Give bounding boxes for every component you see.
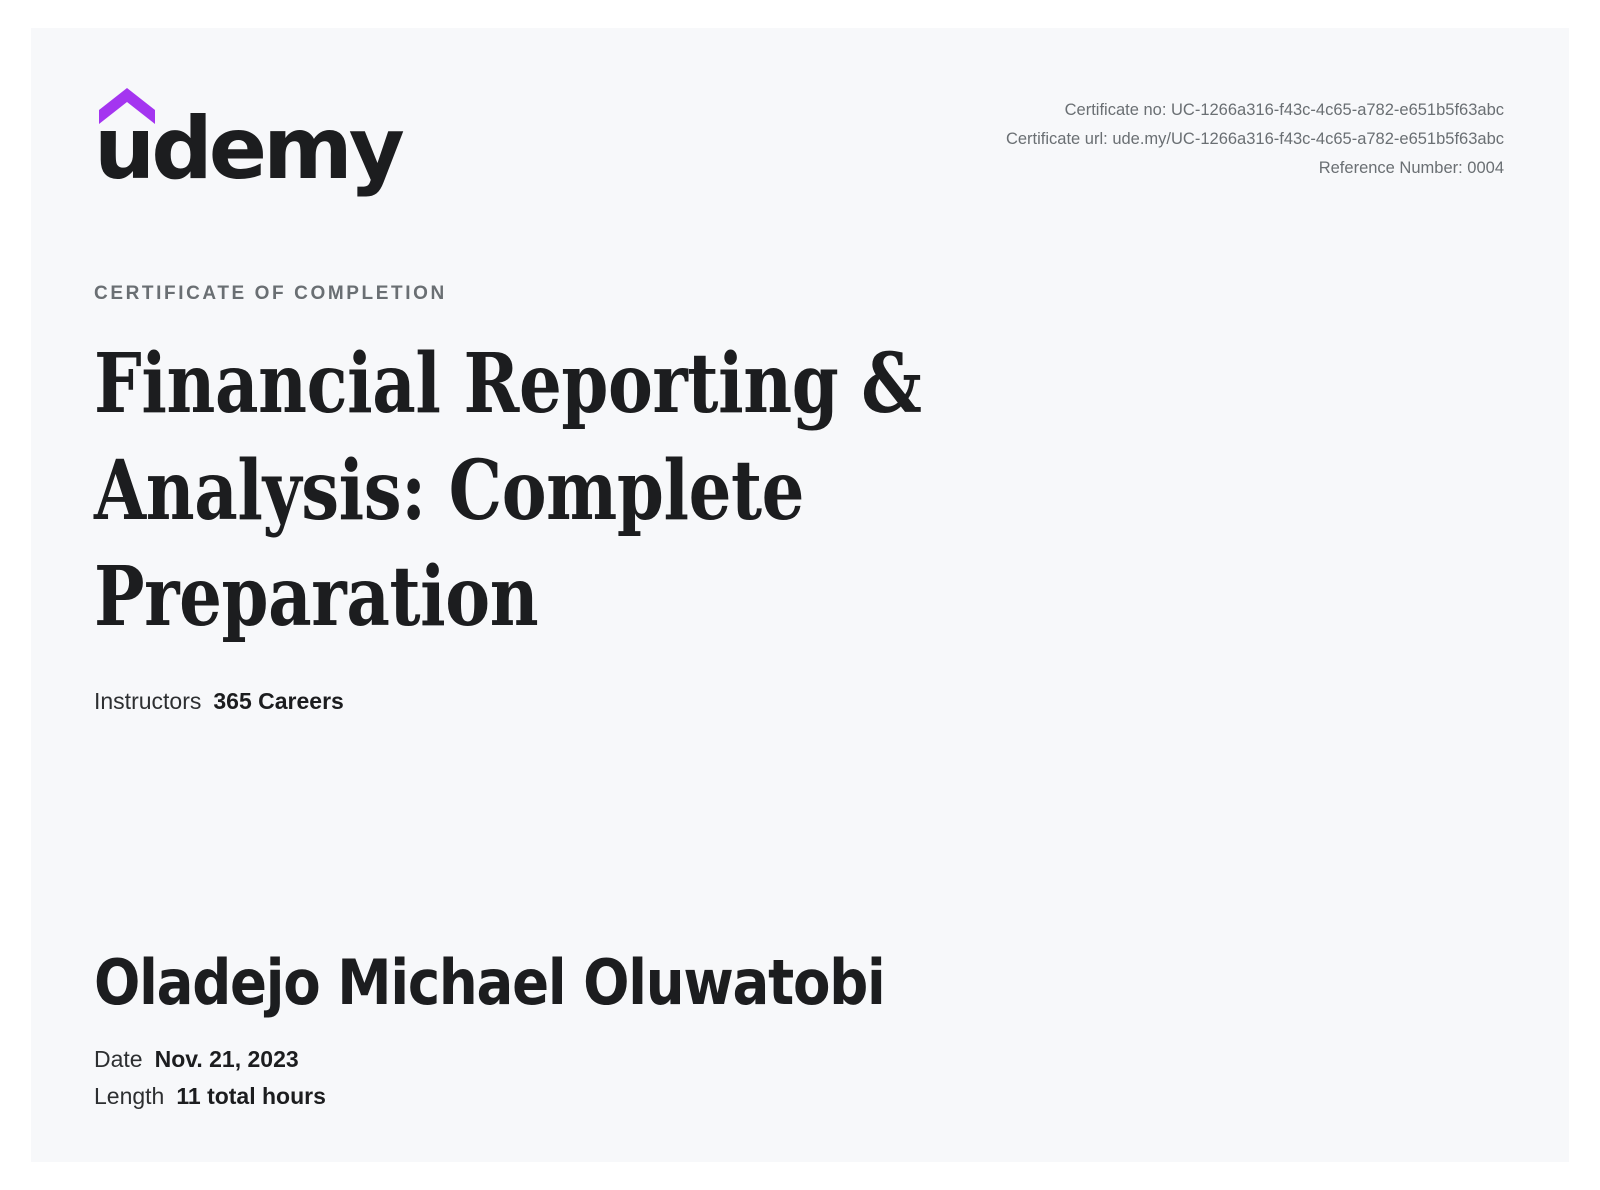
certificate-header: udemy Certificate no: UC-1266a316-f43c-4… <box>31 28 1569 218</box>
instructors-value: 365 Careers <box>213 688 343 714</box>
certificate-page: udemy Certificate no: UC-1266a316-f43c-4… <box>31 28 1569 1162</box>
udemy-logo[interactable]: udemy <box>94 88 364 198</box>
course-title: Financial Reporting & Analysis: Complete… <box>94 331 1254 651</box>
certificate-type-label: CERTIFICATE OF COMPLETION <box>94 283 1509 305</box>
date-row: DateNov. 21, 2023 <box>94 1041 1509 1078</box>
recipient-name: Oladejo Michael Oluwatobi <box>94 948 1339 1017</box>
certificate-url[interactable]: Certificate url: ude.my/UC-1266a316-f43c… <box>1006 125 1504 154</box>
date-label: Date <box>94 1041 143 1078</box>
certificate-number: Certificate no: UC-1266a316-f43c-4c65-a7… <box>1006 96 1504 125</box>
certificate-metadata: Certificate no: UC-1266a316-f43c-4c65-a7… <box>1006 96 1504 183</box>
date-value: Nov. 21, 2023 <box>155 1041 299 1078</box>
instructors-label: Instructors <box>94 688 201 714</box>
recipient-block: Oladejo Michael Oluwatobi DateNov. 21, 2… <box>94 948 1509 1115</box>
length-value: 11 total hours <box>176 1078 326 1115</box>
certificate-details: DateNov. 21, 2023 Length11 total hours <box>94 1041 1509 1115</box>
length-row: Length11 total hours <box>94 1078 1509 1115</box>
udemy-wordmark: udemy <box>94 106 401 192</box>
certificate-body: CERTIFICATE OF COMPLETION Financial Repo… <box>94 283 1509 717</box>
length-label: Length <box>94 1078 164 1115</box>
instructors-row: Instructors365 Careers <box>94 685 1509 717</box>
reference-number: Reference Number: 0004 <box>1006 154 1504 183</box>
